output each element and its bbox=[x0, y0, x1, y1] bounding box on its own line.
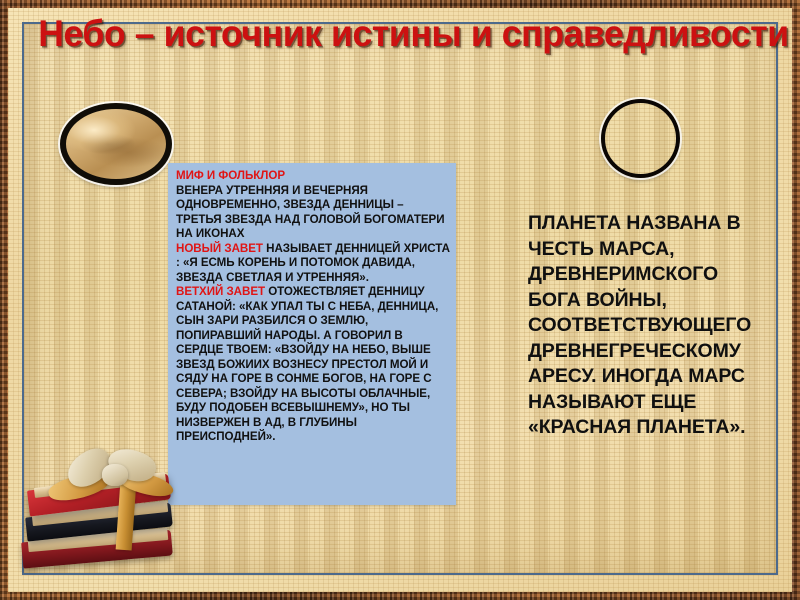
blue-box-paragraph-2: НОВЫЙ ЗАВЕТ НАЗЫВАЕТ ДЕННИЦЕЙ ХРИСТА : «… bbox=[176, 242, 450, 286]
myth-folklore-textbox: МИФ И ФОЛЬКЛОР ВЕНЕРА УТРЕННЯЯ И ВЕЧЕРНЯ… bbox=[168, 163, 456, 505]
blue-box-paragraph-1: ВЕНЕРА УТРЕННЯЯ И ВЕЧЕРНЯЯ ОДНОВРЕМЕННО,… bbox=[176, 184, 450, 242]
slide-title-text: Небо – источник истины и справедливости bbox=[38, 12, 722, 56]
books-stack-image bbox=[14, 448, 184, 584]
slide-title: Небо – источник истины и справедливости bbox=[24, 12, 736, 56]
blue-box-heading: МИФ И ФОЛЬКЛОР bbox=[176, 169, 450, 184]
blue-box-heading-text: МИФ И ФОЛЬКЛОР bbox=[176, 169, 285, 182]
bow-knot bbox=[102, 464, 128, 486]
mars-description-textbox: ПЛАНЕТА НАЗВАНА В ЧЕСТЬ МАРСА, ДРЕВНЕРИМ… bbox=[528, 211, 764, 441]
mars-description-text: ПЛАНЕТА НАЗВАНА В ЧЕСТЬ МАРСА, ДРЕВНЕРИМ… bbox=[528, 212, 751, 438]
old-testament-body: ОТОЖЕСТВЛЯЕТ ДЕННИЦУ САТАНОЙ: «КАК УПАЛ … bbox=[176, 285, 438, 443]
presentation-slide: Небо – источник истины и справедливости … bbox=[0, 0, 800, 600]
old-testament-label: ВЕТХИЙ ЗАВЕТ bbox=[176, 285, 265, 298]
mars-planet-image bbox=[601, 99, 680, 178]
venus-planet-image bbox=[60, 103, 172, 185]
new-testament-label: НОВЫЙ ЗАВЕТ bbox=[176, 242, 263, 255]
blue-box-paragraph-3: ВЕТХИЙ ЗАВЕТ ОТОЖЕСТВЛЯЕТ ДЕННИЦУ САТАНО… bbox=[176, 285, 450, 445]
